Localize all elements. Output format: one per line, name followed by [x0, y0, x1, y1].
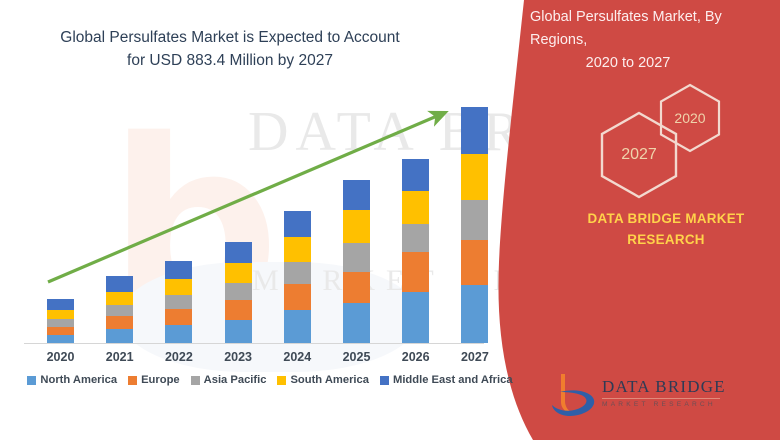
- brand-name-line-1: DATA BRIDGE MARKET: [566, 208, 766, 229]
- logo-tagline: MARKET RESEARCH: [602, 401, 726, 408]
- infographic-canvas: b DATA BRIDGE MARKET RESEARCH Global Per…: [0, 0, 780, 440]
- data-bridge-logo: DATA BRIDGE MARKET RESEARCH: [546, 372, 726, 420]
- data-bridge-logo-mark-icon: [546, 372, 598, 418]
- region-chart-title-line-1: Global Persulfates Market, By Regions,: [530, 6, 780, 52]
- hexagon-badge-2020-label: 2020: [674, 110, 705, 126]
- region-chart-title-line-2: 2020 to 2027: [530, 52, 726, 75]
- hexagon-badge-2020: 2020: [657, 82, 723, 154]
- region-chart-title: Global Persulfates Market, By Regions, 2…: [530, 6, 780, 75]
- brand-name-text: DATA BRIDGE MARKET RESEARCH: [566, 208, 766, 250]
- logo-company-name: DATA BRIDGE: [602, 377, 726, 397]
- red-panel-content: Global Persulfates Market, By Regions, 2…: [0, 0, 780, 440]
- logo-divider: [602, 398, 720, 399]
- brand-name-line-2: RESEARCH: [566, 229, 766, 250]
- hexagon-badge-2027-label: 2027: [621, 146, 657, 164]
- data-bridge-logo-text: DATA BRIDGE MARKET RESEARCH: [602, 377, 726, 408]
